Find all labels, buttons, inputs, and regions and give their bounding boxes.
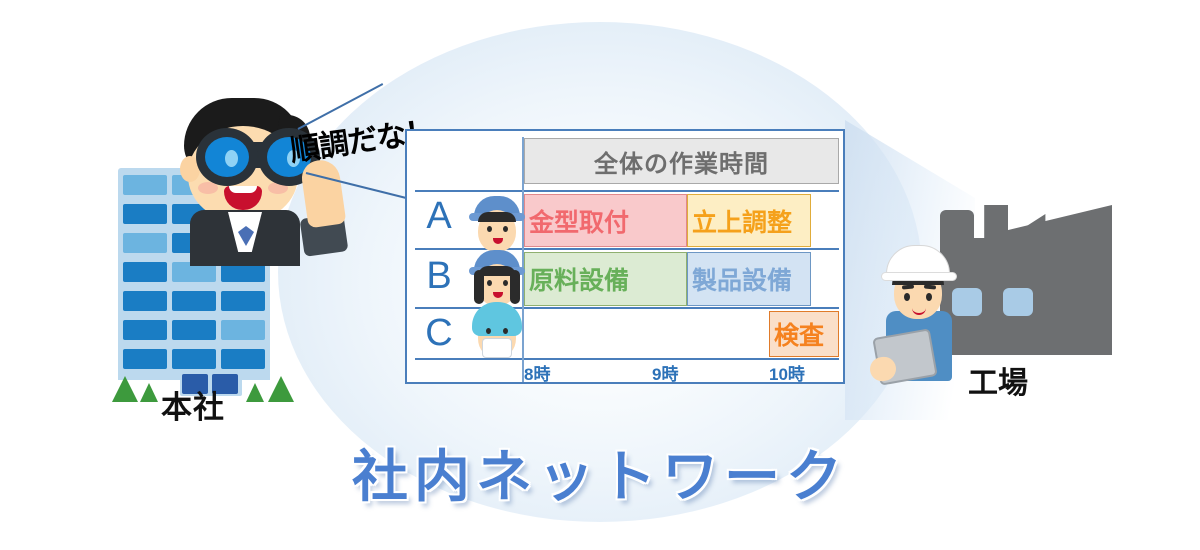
row-avatar-a: [470, 196, 524, 258]
gantt-bar[interactable]: 金型取付: [524, 194, 687, 247]
factory-window: [1003, 288, 1033, 316]
diagram-canvas: 本社 順調だな！ 全体の作業時間 A: [0, 0, 1200, 550]
gantt-header: 全体の作業時間: [524, 138, 839, 184]
helmet-icon: [886, 245, 950, 281]
gantt-bar[interactable]: 検査: [769, 311, 839, 357]
network-wordart: 社内ネットワーク: [0, 432, 1200, 513]
row-avatar-c: [470, 302, 524, 364]
tree-icon: [268, 376, 294, 402]
row-label-c: C: [417, 314, 461, 352]
gantt-bar[interactable]: 立上調整: [687, 194, 811, 247]
gantt-bar[interactable]: 製品設備: [687, 252, 811, 306]
headquarters-label: 本社: [118, 382, 268, 427]
row-label-b: B: [417, 257, 461, 295]
axis-tick-label: 8時: [524, 360, 550, 385]
factory-icon-right: [1000, 205, 1112, 355]
factory-label: 工場: [968, 358, 1028, 402]
axis-tick-label: 9時: [652, 360, 678, 385]
gantt-time-axis: 8時9時10時: [524, 360, 839, 384]
axis-tick-label: 10時: [769, 360, 805, 385]
row-divider: [415, 190, 839, 192]
gantt-bar[interactable]: 原料設備: [524, 252, 687, 306]
factory-worker-icon: [878, 245, 962, 380]
row-label-a: A: [417, 197, 461, 235]
